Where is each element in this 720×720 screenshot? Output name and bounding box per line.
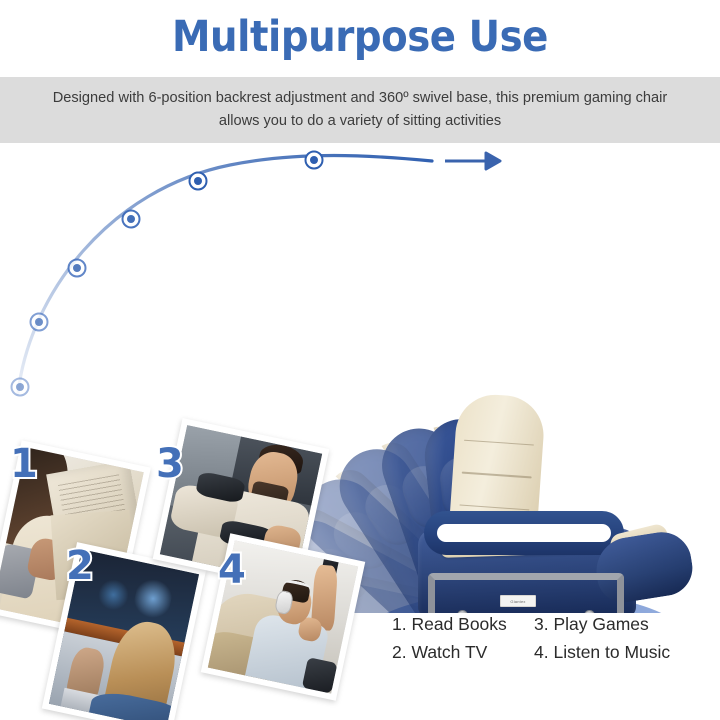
activity-item-4: 4. Listen to Music (534, 642, 712, 663)
armrest (424, 511, 624, 555)
activity-item-2: 2. Watch TV (392, 642, 534, 663)
description-text: Designed with 6-position backrest adjust… (0, 87, 720, 132)
metal-frame (428, 573, 624, 613)
activity-item-3: 3. Play Games (534, 614, 712, 635)
activity-item-1: 1. Read Books (392, 614, 534, 635)
brand-label: Giantex (500, 595, 536, 607)
photo-number-3: 3 (156, 444, 184, 484)
activity-photo-collage: 1 2 3 4 (0, 424, 340, 720)
photo-number-1: 1 (10, 444, 38, 484)
product-infographic: Multipurpose Use Designed with 6-positio… (0, 0, 720, 720)
activity-list: 1. Read Books 3. Play Games 2. Watch TV … (392, 614, 712, 663)
photo-number-2: 2 (66, 546, 94, 586)
page-title: Multipurpose Use (36, 8, 684, 66)
photo-number-4: 4 (218, 550, 246, 590)
